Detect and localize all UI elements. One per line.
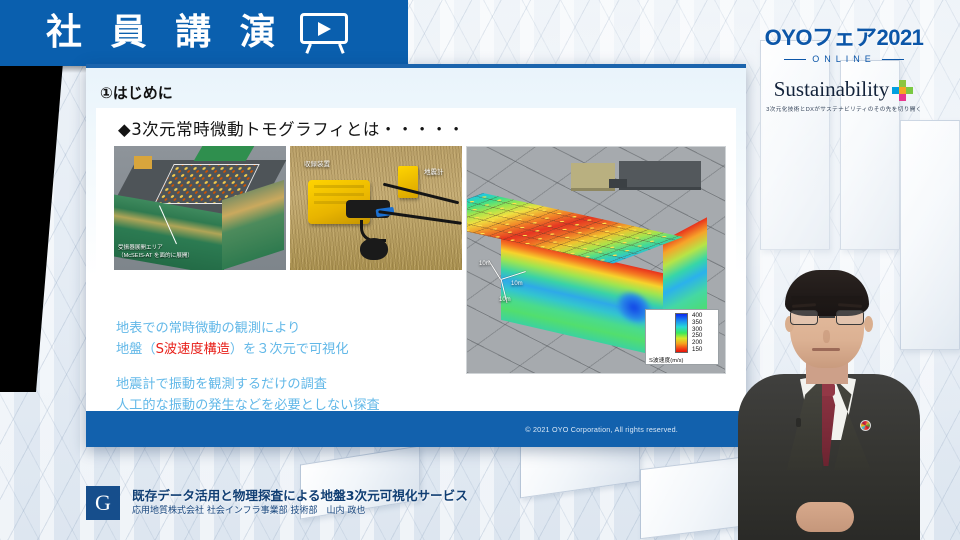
axis-label-z: 10m (479, 261, 491, 267)
site-building (619, 161, 701, 187)
axis-label-y: 10m (499, 297, 511, 303)
event-tagline: 3次元化技術とDXがサステナビリティのその先を切り開く (744, 105, 944, 113)
receiver-points-overlay (466, 193, 683, 264)
lapel-microphone-icon (796, 418, 801, 427)
plus-mark-icon (892, 80, 914, 100)
body-line-3: 地震計で振動を観測するだけの調査 (116, 374, 476, 395)
sustainability-logo: Sustainability (744, 77, 944, 102)
screen-root: 社 員 講 演 OYOフェア2021 ONLINE Sustainability… (0, 0, 960, 540)
figure1-caption-line2: （McSEIS-AT を面的に展開） (118, 252, 268, 260)
event-logo-group: OYOフェア2021 ONLINE Sustainability 3次元化技術と… (744, 20, 944, 113)
presentation-title: 既存データ活用と物理探査による地盤3次元可視化サービス (132, 488, 468, 504)
slide-section-title: ①はじめに (100, 82, 173, 103)
slide-body-text: 地表での常時微動の観測により 地盤（S波速度構造）を３次元で可視化 地震計で振動… (116, 318, 476, 417)
scale-axes-indicator: 10m 10m 10m (481, 255, 537, 307)
info-text-group: 既存データ活用と物理探査による地盤3次元可視化サービス 応用地質株式会社 社会イ… (132, 488, 468, 517)
body-line-2-highlight: S波速度構造 (156, 342, 230, 357)
body-line-2-prefix: 地盤（ (116, 342, 156, 357)
color-scale-bar (675, 313, 688, 353)
copyright-text: © 2021 OYO Corporation, All rights reser… (525, 425, 678, 434)
field-photo-graphic: 収録装置 地震計 (290, 146, 462, 270)
presentation-slide: ①はじめに ◆3次元常時微動トモグラフィとは・・・・・ (86, 64, 746, 447)
banner-title: 社 員 講 演 (46, 15, 284, 51)
presentation-monitor-icon (298, 13, 350, 53)
online-label: ONLINE (744, 54, 944, 64)
body-line-1: 地表での常時微動の観測により (116, 318, 476, 339)
company-logo-icon: G (86, 486, 120, 520)
velocity-color-legend: 400 350 300 250 200 150 S波速度(m/s) (645, 309, 719, 365)
presenter-affiliation: 応用地質株式会社 社会インフラ事業部 技術部 山内 政也 (132, 506, 468, 518)
session-banner: 社 員 講 演 (0, 0, 408, 66)
site-building (609, 179, 627, 188)
presenter-hands (796, 502, 854, 532)
sustainability-text: Sustainability (774, 77, 890, 102)
legend-tick: 150 (692, 347, 702, 353)
slide-footer-bar: © 2021 OYO Corporation, All rights reser… (86, 411, 746, 447)
figure-field-equipment-photo: 収録装置 地震計 (290, 146, 462, 270)
sdgs-pin-icon (860, 420, 871, 431)
presentation-info-bar: G 既存データ活用と物理探査による地盤3次元可視化サービス 応用地質株式会社 社… (86, 482, 516, 524)
slide-content-area: ◆3次元常時微動トモグラフィとは・・・・・ 受振器展開エリア (96, 108, 736, 428)
seismometer-label: 地震計 (424, 166, 444, 176)
recorder-label: 収録装置 (304, 158, 330, 168)
axis-label-x: 10m (511, 281, 523, 287)
slide-sub-heading: ◆3次元常時微動トモグラフィとは・・・・・ (118, 116, 465, 140)
figure-row: 受振器展開エリア （McSEIS-AT を面的に展開） (114, 146, 726, 306)
body-line-2: 地盤（S波速度構造）を３次元で可視化 (116, 339, 476, 360)
figure1-caption: 受振器展開エリア （McSEIS-AT を面的に展開） (118, 244, 268, 260)
figure1-caption-line1: 受振器展開エリア (118, 244, 268, 252)
body-line-2-suffix: ）を３次元で可視化 (230, 342, 349, 357)
color-scale-ticks: 400 350 300 250 200 150 (691, 313, 702, 353)
oyo-fair-logo: OYOフェア2021 (744, 20, 944, 52)
glasses-icon (789, 310, 865, 326)
legend-caption: S波速度(m/s) (649, 355, 715, 364)
tomography-graphic: 10m 10m 10m 400 350 300 (467, 147, 725, 373)
figure-tomography-result: 10m 10m 10m 400 350 300 (466, 146, 726, 374)
figure-receiver-array-model: 受振器展開エリア （McSEIS-AT を面的に展開） (114, 146, 286, 270)
presenter-video-overlay (734, 270, 924, 540)
